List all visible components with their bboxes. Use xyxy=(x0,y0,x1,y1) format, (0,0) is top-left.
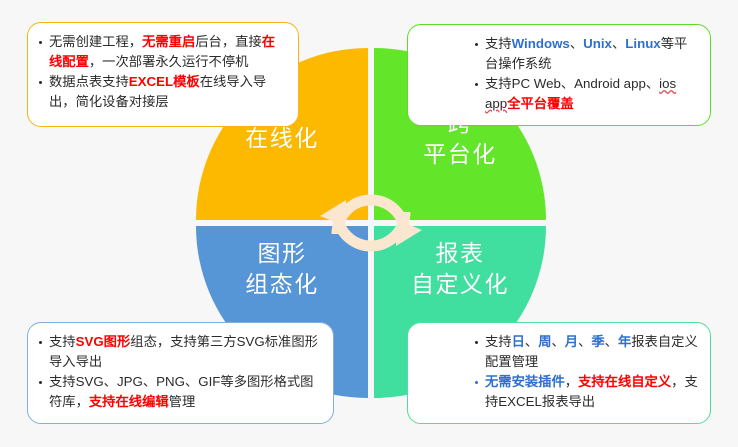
bullet-text-run: 无需创建工程， xyxy=(49,34,142,49)
callout-bottom-left-list: 支持SVG图形组态，支持第三方SVG标准图形导入导出支持SVG、JPG、PNG、… xyxy=(38,332,323,411)
bullet-item: 支持SVG、JPG、PNG、GIF等多图形格式图符库，支持在线编辑管理 xyxy=(38,372,323,411)
bullet-text-run: 支持在线编辑 xyxy=(89,394,169,409)
bullet-text-run: EXCEL模板 xyxy=(129,74,200,89)
bullet-item: 数据点表支持EXCEL模板在线导入导出，简化设备对接层 xyxy=(38,72,288,111)
callout-top-right-list: 支持Windows、Unix、Linux等平台操作系统支持PC Web、Andr… xyxy=(474,34,700,113)
bullet-item: 无需安装插件，支持在线自定义，支持EXCEL报表导出 xyxy=(474,372,700,411)
bullet-text-run: 支持 xyxy=(49,334,76,349)
bullet-text-run: Linux xyxy=(625,36,660,51)
bullet-text-run: 管理 xyxy=(169,394,196,409)
bullet-item: 支持SVG图形组态，支持第三方SVG标准图形导入导出 xyxy=(38,332,323,371)
bullet-text-run: 周 xyxy=(538,334,551,349)
bullet-text-run: Unix xyxy=(583,36,612,51)
bullet-text-run: 、 xyxy=(605,334,618,349)
bullet-text-run: 无需重启 xyxy=(142,34,195,49)
bullet-text-run: 、 xyxy=(525,334,538,349)
bullet-text-run: 年 xyxy=(618,334,631,349)
callout-top-left[interactable]: 无需创建工程，无需重启后台，直接在线配置，一次部署永久运行不停机数据点表支持EX… xyxy=(27,22,299,127)
quadrant-label-report: 报表 自定义化 xyxy=(374,238,546,300)
quadrant-label-report-line1: 报表 xyxy=(374,238,546,269)
callout-top-left-list: 无需创建工程，无需重启后台，直接在线配置，一次部署永久运行不停机数据点表支持EX… xyxy=(38,32,288,111)
bullet-text-run: 支持 xyxy=(485,334,512,349)
bullet-text-run: 、 xyxy=(578,334,591,349)
bullet-text-run: 、 xyxy=(612,36,625,51)
bullet-text-run: 支持PC Web、Android app、 xyxy=(485,76,659,91)
callout-bottom-right-list: 支持日、周、月、季、年报表自定义配置管理无需安装插件，支持在线自定义，支持EXC… xyxy=(474,332,700,411)
quadrant-label-graphics-line1: 图形 xyxy=(196,238,368,269)
bullet-item: 无需创建工程，无需重启后台，直接在线配置，一次部署永久运行不停机 xyxy=(38,32,288,71)
quadrant-label-cross-platform: 跨 平台化 xyxy=(374,108,546,170)
bullet-text-run: 支持在线自定义 xyxy=(578,374,671,389)
bullet-text-run: 支持 xyxy=(485,36,512,51)
bullet-text-run: 、 xyxy=(570,36,583,51)
bullet-text-run: ，一次部署永久运行不停机 xyxy=(89,54,249,69)
quadrant-label-online-line1: 在线化 xyxy=(196,123,368,154)
quadrant-label-report-line2: 自定义化 xyxy=(374,269,546,300)
quadrant-label-cross-line1: 跨 xyxy=(374,108,546,139)
bullet-text-run: 日 xyxy=(512,334,525,349)
quadrant-label-cross-line2: 平台化 xyxy=(374,139,546,170)
bullet-text-run: 后台，直接 xyxy=(195,34,261,49)
bullet-text-run: 数据点表支持 xyxy=(49,74,129,89)
bullet-text-run: SVG图形 xyxy=(76,334,131,349)
callout-bottom-left[interactable]: 支持SVG图形组态，支持第三方SVG标准图形导入导出支持SVG、JPG、PNG、… xyxy=(27,322,334,424)
bullet-text-run: 月 xyxy=(565,334,578,349)
diagram-canvas: 在线化 跨 平台化 图形 组态化 报表 自定义化 无需创建工程，无需重启后台，直… xyxy=(0,0,738,447)
bullet-text-run: 、 xyxy=(551,334,564,349)
quadrant-label-graphics: 图形 组态化 xyxy=(196,238,368,300)
bullet-text-run: Windows xyxy=(512,36,570,51)
bullet-text-run: ， xyxy=(565,374,578,389)
quadrant-label-graphics-line2: 组态化 xyxy=(196,269,368,300)
quadrant-label-online: 在线化 xyxy=(196,123,368,154)
bullet-item: 支持日、周、月、季、年报表自定义配置管理 xyxy=(474,332,700,371)
callout-bottom-right[interactable]: 支持日、周、月、季、年报表自定义配置管理无需安装插件，支持在线自定义，支持EXC… xyxy=(407,322,711,424)
bullet-text-run: 无需安装插件 xyxy=(485,374,565,389)
bullet-item: 支持Windows、Unix、Linux等平台操作系统 xyxy=(474,34,700,73)
bullet-text-run: 季 xyxy=(591,334,604,349)
